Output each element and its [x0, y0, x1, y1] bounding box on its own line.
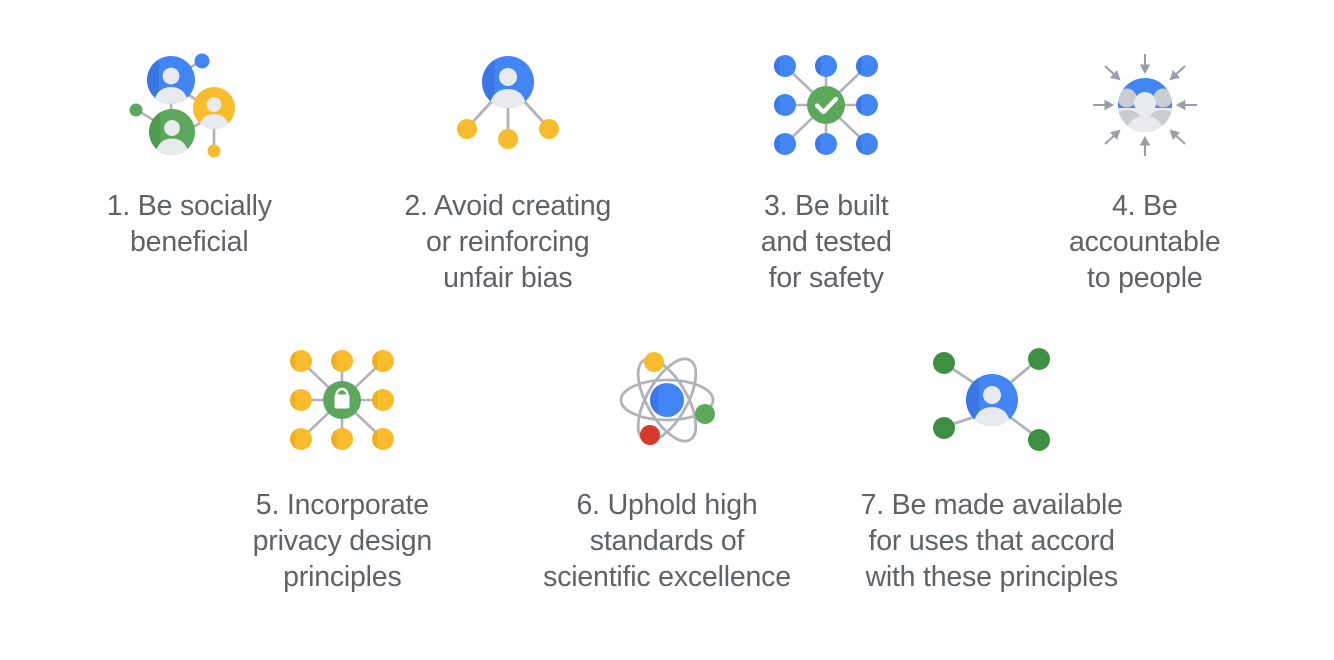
person-blue: [482, 56, 534, 108]
node-green-top-left: [933, 352, 955, 374]
principle-card-5[interactable]: 5. Incorporate privacy design principles: [180, 335, 505, 595]
electron-red: [640, 425, 660, 445]
people-inward-arrows-icon: [1070, 40, 1220, 170]
principle-label-3: 3. Be built and tested for safety: [761, 188, 892, 296]
person-four-nodes-icon: [917, 335, 1067, 465]
person-branching-nodes-icon: [433, 40, 583, 170]
person-blue: [147, 56, 195, 114]
principle-card-6[interactable]: 6. Uphold high standards of scientific e…: [505, 335, 830, 595]
small-green-node: [130, 104, 143, 117]
person-blue: [966, 374, 1018, 426]
people-group-circle: [1110, 78, 1179, 138]
principle-label-6: 6. Uphold high standards of scientific e…: [543, 487, 791, 595]
principle-label-7: 7. Be made available for uses that accor…: [861, 487, 1123, 595]
principle-card-4[interactable]: 4. Be accountable to people: [986, 40, 1305, 296]
principle-label-4: 4. Be accountable to people: [1069, 188, 1221, 296]
lock-hub-network-icon: [267, 335, 417, 465]
social-network-people-icon: [114, 40, 264, 170]
principle-card-2[interactable]: 2. Avoid creating or reinforcing unfair …: [349, 40, 668, 296]
principle-label-1: 1. Be socially beneficial: [107, 188, 272, 260]
electron-yellow: [644, 352, 664, 372]
checkmark-hub-network-icon: [751, 40, 901, 170]
small-blue-node: [195, 54, 210, 69]
node-yellow-right: [539, 119, 559, 139]
principle-card-3[interactable]: 3. Be built and tested for safety: [667, 40, 986, 296]
person-green: [149, 109, 195, 156]
principles-board: 1. Be socially beneficial: [0, 0, 1334, 660]
node-yellow-bottom: [498, 129, 518, 149]
principles-row-one: 1. Be socially beneficial: [0, 40, 1334, 296]
principle-label-2: 2. Avoid creating or reinforcing unfair …: [404, 188, 611, 296]
node-green-bottom-left: [933, 417, 955, 439]
small-yellow-node: [208, 145, 221, 158]
node-yellow-left: [457, 119, 477, 139]
principle-card-7[interactable]: 7. Be made available for uses that accor…: [829, 335, 1154, 595]
node-green-bottom-right: [1028, 429, 1050, 451]
principle-card-1[interactable]: 1. Be socially beneficial: [30, 40, 349, 296]
hub-green-circle: [807, 86, 845, 124]
principles-row-two: 5. Incorporate privacy design principles: [0, 335, 1334, 595]
principle-label-5: 5. Incorporate privacy design principles: [253, 487, 432, 595]
node-green-top-right: [1028, 348, 1050, 370]
atom-icon: [592, 335, 742, 465]
electron-green: [695, 404, 715, 424]
